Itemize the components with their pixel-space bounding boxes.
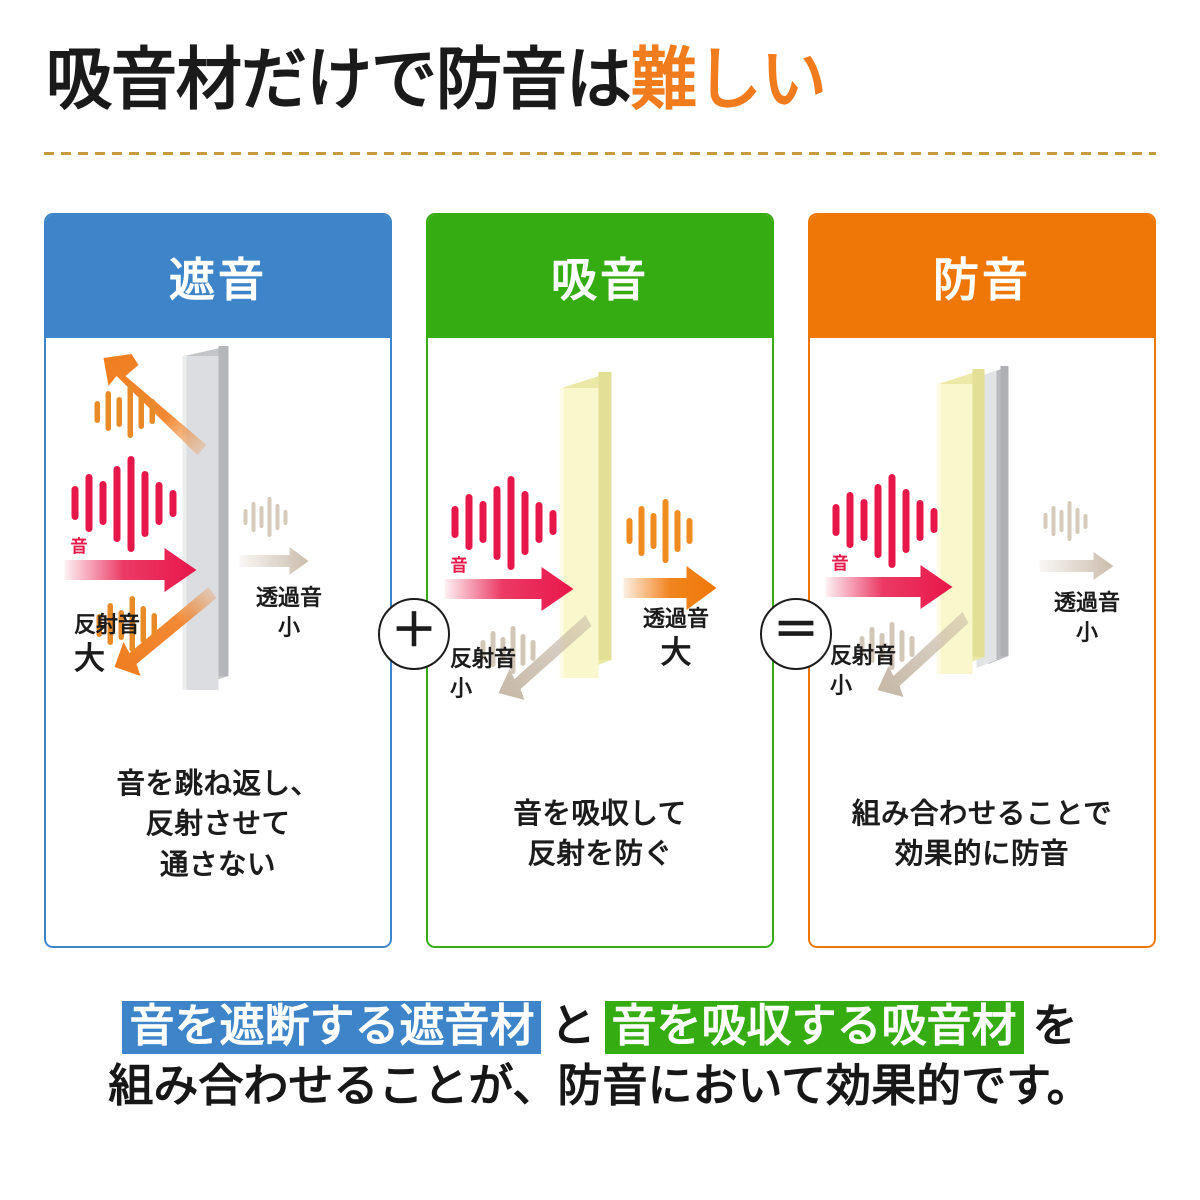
caption-line: 効果的に防音 (810, 834, 1154, 874)
dashed-divider (44, 152, 1156, 155)
connector-plus: ＋ (378, 598, 450, 670)
card-soundproof-body: 音 (810, 338, 1154, 946)
transmitted-level: 小 (234, 613, 344, 643)
card-absorption-caption: 音を吸収して 反射を防ぐ (428, 794, 772, 875)
reflected-name: 反射音 (830, 641, 940, 671)
reflected-level: 小 (830, 671, 940, 701)
card-shielding-body: 音 (46, 338, 390, 946)
page-title-accent: 難しい (631, 42, 826, 118)
summary-highlight-absorption: 音を吸収する吸音材 (605, 1001, 1024, 1054)
caption-line: 組み合わせることで (810, 794, 1154, 834)
summary-block: 音を遮断する遮音材と音を吸収する吸音材を 組み合わせることが、防音において効果的… (0, 996, 1200, 1116)
reflected-label-soundproof: 反射音 小 (830, 641, 940, 700)
reflected-label-absorption: 反射音 小 (450, 644, 560, 703)
transmitted-label-absorption: 透過音 大 (616, 606, 736, 672)
card-absorption-header: 吸音 (428, 215, 772, 338)
page-title: 吸音材だけで防音は難しい (46, 34, 1156, 126)
reflected-name: 反射音 (74, 612, 184, 638)
diagram-shielding: 音 (46, 338, 390, 758)
connector-plus-glyph: ＋ (391, 607, 437, 653)
transmitted-level: 小 (1032, 618, 1142, 648)
transmitted-name: 透過音 (616, 606, 736, 632)
comparison-cards: 遮音 (44, 213, 1156, 948)
card-shielding: 遮音 (44, 213, 392, 948)
transmitted-wave-faint (1044, 501, 1088, 541)
page-title-plain: 吸音材だけで防音は (46, 42, 631, 118)
summary-line-2: 組み合わせることが、防音において効果的です。 (0, 1056, 1200, 1116)
caption-line: 反射を防ぐ (428, 834, 772, 874)
transmitted-arrow-faint (1040, 552, 1114, 580)
card-shielding-header: 遮音 (46, 215, 390, 338)
card-absorption-body: 音 (428, 338, 772, 946)
connector-equal: ＝ (760, 598, 832, 670)
summary-line-1: 音を遮断する遮音材と音を吸収する吸音材を (0, 996, 1200, 1056)
reflected-name: 反射音 (450, 644, 560, 674)
summary-highlight-shielding: 音を遮断する遮音材 (122, 1001, 541, 1054)
card-soundproof: 防音 (808, 213, 1156, 948)
summary-conjunction: と (550, 1000, 595, 1051)
card-absorption: 吸音 (426, 213, 774, 948)
connector-equal-glyph: ＝ (773, 607, 819, 653)
transmitted-name: 透過音 (234, 583, 344, 613)
reflected-level: 小 (450, 674, 560, 704)
infographic-page: 吸音材だけで防音は難しい 遮音 (0, 0, 1200, 1200)
transmitted-label-shielding: 透過音 小 (234, 583, 344, 642)
transmitted-arrow-orange (624, 566, 717, 610)
card-soundproof-caption: 組み合わせることで 効果的に防音 (810, 794, 1154, 875)
incoming-sound-label: 音 (832, 553, 849, 573)
card-soundproof-header: 防音 (810, 215, 1154, 338)
reflected-wave-up (95, 384, 156, 438)
incoming-sound-label: 音 (451, 555, 468, 575)
transmitted-label-soundproof: 透過音 小 (1032, 588, 1142, 647)
transmitted-wave-orange (627, 499, 693, 563)
card-shielding-caption: 音を跳ね返し、 反射させて 通さない (46, 764, 390, 885)
caption-line: 音を跳ね返し、 (46, 764, 390, 804)
reflected-level: 大 (74, 640, 184, 677)
transmitted-name: 透過音 (1032, 588, 1142, 618)
barrier-wall-gray (183, 346, 229, 690)
transmitted-level: 大 (616, 634, 736, 671)
caption-line: 音を吸収して (428, 794, 772, 834)
transmitted-wave-faint (244, 497, 288, 537)
incoming-sound-label: 音 (71, 536, 88, 556)
transmitted-arrow-faint (240, 547, 309, 575)
reflected-label-shielding: 反射音 大 (74, 612, 184, 678)
caption-line: 反射させて (46, 804, 390, 844)
summary-particle: を (1033, 1000, 1078, 1051)
caption-line: 通さない (46, 845, 390, 885)
